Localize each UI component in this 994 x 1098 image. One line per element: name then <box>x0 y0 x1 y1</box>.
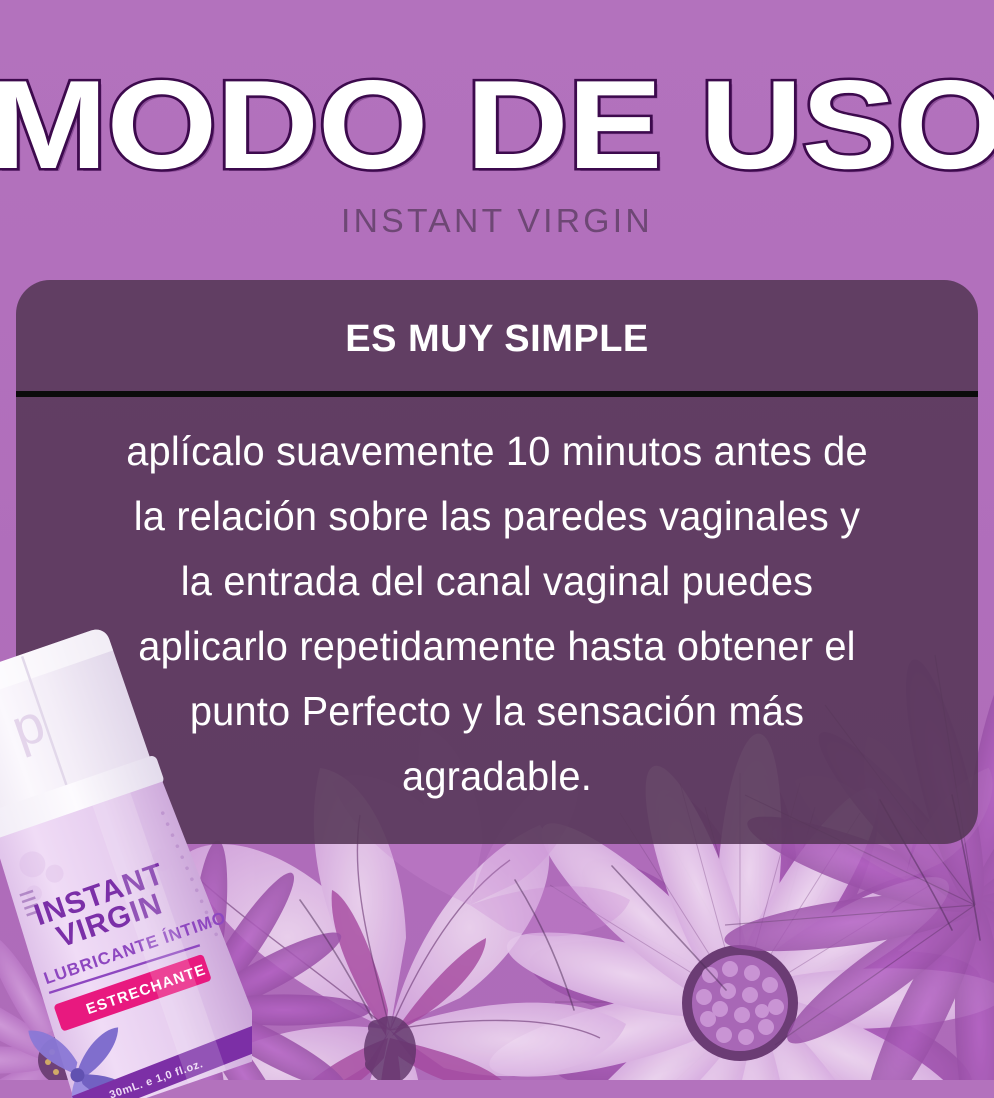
page-subtitle: INSTANT VIRGIN <box>0 188 994 240</box>
body-line: aplícalo suavemente 10 minutos antes de <box>126 428 868 474</box>
body-line: la entrada del canal vaginal puedes <box>181 558 814 604</box>
body-line: agradable. <box>402 753 592 799</box>
card-heading: ES MUY SIMPLE <box>16 280 978 361</box>
page-title: MODO DE USO <box>0 0 994 188</box>
body-line: la relación sobre las paredes vaginales … <box>134 493 860 539</box>
body-line: punto Perfecto y la sensación más <box>190 688 804 734</box>
product-bottle-image: p INSTANT VIRGIN LUBRIC <box>0 628 252 1098</box>
header: MODO DE USO INSTANT VIRGIN <box>0 0 994 240</box>
